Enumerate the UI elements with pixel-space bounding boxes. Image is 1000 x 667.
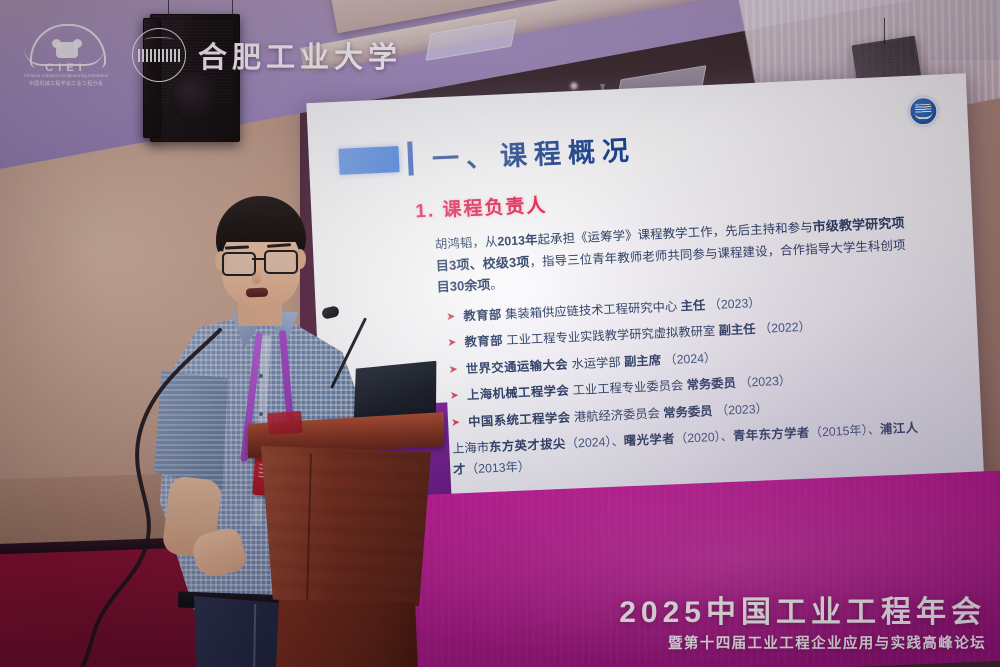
bullet-unit: 水运学部 bbox=[571, 355, 621, 371]
slide-title: 一、课程概况 bbox=[431, 128, 637, 176]
cie-gear-icon bbox=[56, 42, 78, 58]
award-1: 东方英才拔尖 bbox=[489, 437, 566, 454]
presenter-fringe bbox=[218, 216, 304, 242]
banner-subtitle: 暨第十四届工业工程企业应用与实践高峰论坛 bbox=[619, 632, 986, 653]
para-year: 2013年 bbox=[497, 233, 538, 249]
eyeglasses-lens bbox=[222, 252, 256, 276]
bullet-unit: 工业工程专业实践教学研究虚拟教研室 bbox=[506, 324, 715, 347]
cie-english-name: Chinese Industrial Engineering Instituti… bbox=[18, 73, 114, 78]
eyeglasses-bridge bbox=[252, 258, 265, 260]
para-end: 。 bbox=[490, 278, 503, 293]
para-bold2: 目30余项 bbox=[436, 277, 490, 294]
recessed-light-icon bbox=[570, 82, 578, 90]
bullet-year: （2023） bbox=[739, 374, 792, 390]
award-3-year: （2015年）、 bbox=[809, 423, 880, 440]
bullet-unit: 工业工程专业委员会 bbox=[572, 379, 683, 398]
hfut-title: 合肥工业大学 bbox=[198, 34, 402, 76]
cie-chinese-name: 中国机械工程学会工业工程分会 bbox=[18, 80, 114, 87]
bullet-arrow-icon: ➤ bbox=[448, 364, 458, 375]
bullet-arrow-icon: ➤ bbox=[447, 338, 457, 349]
bullet-org: 中国系统工程学会 bbox=[468, 410, 571, 429]
hfut-seal-icon bbox=[132, 28, 186, 82]
conference-photo: 一、课程概况 1. 课程负责人 胡鸿韬，从2013年起承担《运筹学》课程教学工作… bbox=[0, 0, 1000, 667]
hfut-logo: 合肥工业大学 bbox=[132, 26, 422, 84]
bullet-year: （2022） bbox=[759, 320, 812, 336]
bullet-org: 教育部 bbox=[464, 334, 503, 350]
bullet-org: 教育部 bbox=[463, 307, 502, 323]
title-accent-bar bbox=[407, 141, 414, 175]
bullet-arrow-icon: ➤ bbox=[450, 391, 460, 402]
bullet-unit: 集装箱供应链技术工程研究中心 bbox=[505, 299, 678, 321]
awards-prefix: 上海市 bbox=[452, 441, 490, 457]
bullet-arrow-icon: ➤ bbox=[446, 311, 456, 322]
microphone-cable bbox=[40, 320, 260, 667]
title-accent-block bbox=[338, 146, 399, 175]
cie-logo: CIEI Chinese Industrial Engineering Inst… bbox=[18, 22, 114, 90]
bullet-year: （2023） bbox=[708, 296, 761, 312]
award-1-year: （2024）、 bbox=[565, 434, 624, 451]
mouth bbox=[246, 288, 268, 298]
bullet-unit: 港航经济委员会 bbox=[574, 406, 661, 424]
award-2: 曙光学者 bbox=[624, 432, 676, 448]
lectern-body bbox=[261, 446, 431, 606]
bullet-role: 副主席 bbox=[624, 353, 662, 369]
eyeglasses-lens bbox=[264, 250, 298, 274]
lectern-badge bbox=[267, 411, 302, 435]
bullet-year: （2023） bbox=[716, 401, 769, 417]
banner-main-title: 2025中国工业工程年会 bbox=[619, 596, 986, 629]
slide-title-row: 一、课程概况 bbox=[338, 114, 943, 180]
bullet-role: 副主任 bbox=[718, 322, 756, 338]
bullet-year: （2024） bbox=[664, 351, 717, 367]
award-3: 青年东方学者 bbox=[733, 426, 810, 443]
nose bbox=[252, 270, 261, 284]
bullet-org: 世界交通运输大会 bbox=[465, 357, 568, 376]
lectern bbox=[248, 418, 444, 667]
bullet-arrow-icon: ➤ bbox=[451, 417, 461, 428]
award-4-year: （2013年） bbox=[466, 460, 531, 477]
slide-paragraph: 胡鸿韬，从2013年起承担《运筹学》课程教学工作，先后主持和参与市级教学研究项目… bbox=[434, 212, 906, 298]
bullet-role: 主任 bbox=[680, 298, 705, 313]
bullet-org: 上海机械工程学会 bbox=[467, 384, 570, 403]
bullet-role: 常务委员 bbox=[663, 404, 713, 420]
slide-bullet-list: ➤ 教育部 集装箱供应链技术工程研究中心 主任 （2023） ➤ 教育部 工业工… bbox=[446, 284, 957, 481]
lectern-base bbox=[276, 600, 418, 667]
para-lead: 胡鸿韬，从 bbox=[435, 235, 498, 252]
event-banner: 2025中国工业工程年会 暨第十四届工业工程企业应用与实践高峰论坛 bbox=[619, 596, 986, 653]
bullet-role: 常务委员 bbox=[686, 376, 736, 392]
award-2-year: （2020）、 bbox=[675, 429, 734, 446]
